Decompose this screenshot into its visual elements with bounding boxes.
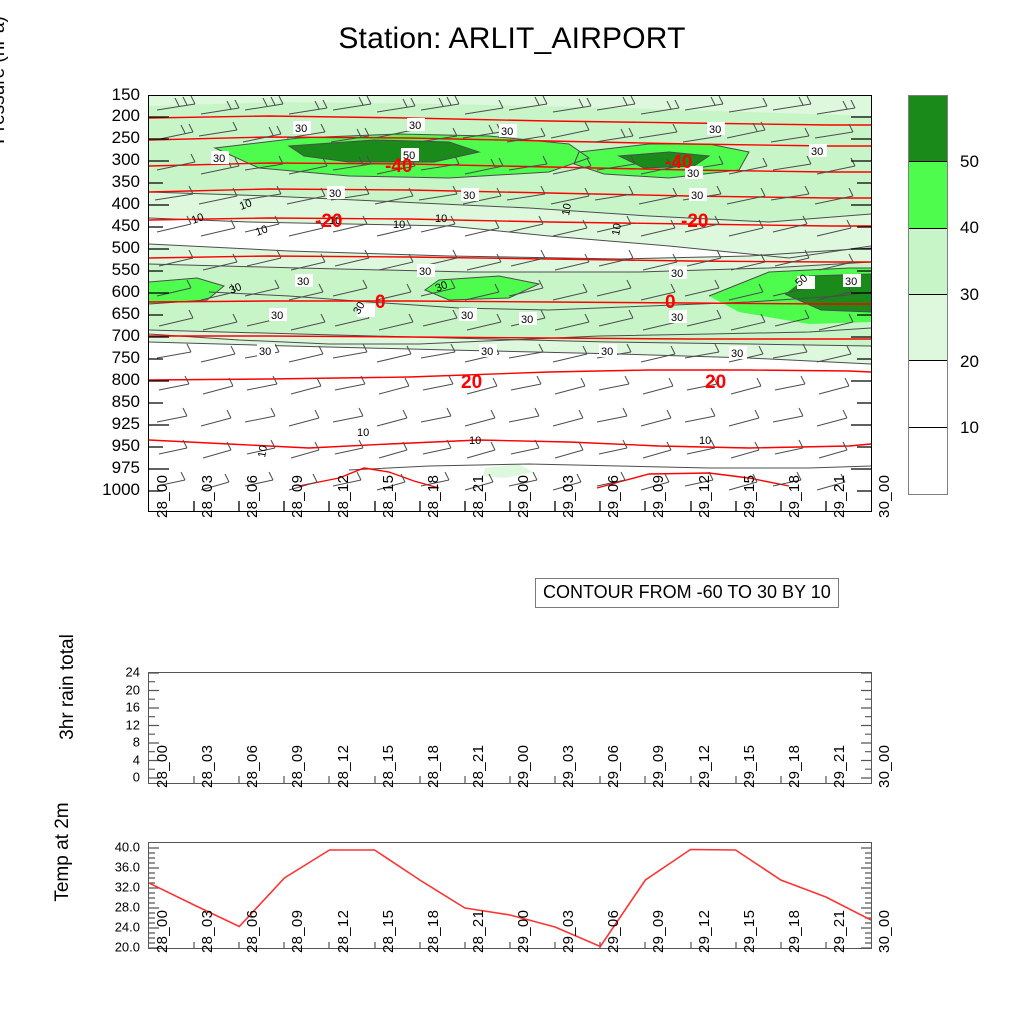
pressure-tick-750: 750 [80,348,140,368]
pressure-tick-450: 450 [80,216,140,236]
wind-label-30: 30 [259,346,271,358]
isotherm-label-minus20: -20 [315,211,342,232]
rain-xtick-30_00: 30_00 [876,745,893,788]
rain-ytick-24: 24 [96,665,140,680]
main-xtick-29_21: 29_21 [831,475,848,518]
pressure-tick-950: 950 [80,436,140,456]
colorbar-tick-10: 10 [960,418,979,438]
rain-ytick-20: 20 [96,682,140,697]
temp-xtick-29_12: 29_12 [696,910,713,953]
colorbar-band-5 [909,428,947,494]
main-xtick-30_00: 30_00 [876,475,893,518]
wind-label-30: 30 [461,310,473,322]
wind-label-30: 30 [709,124,721,136]
wind-label-10: 10 [357,427,369,439]
rain-ytick-12: 12 [96,717,140,732]
wind-label-30: 30 [671,268,683,280]
wind-label-30: 30 [213,153,225,165]
colorbar-band-0 [909,96,947,162]
temp-xtick-28_18: 28_18 [425,910,442,953]
wind-label-10: 10 [469,435,481,447]
main-xtick-28_06: 28_06 [244,475,261,518]
main-xtick-28_21: 28_21 [470,475,487,518]
wind-label-30: 30 [481,346,493,358]
temp-ytick-36.0: 36.0 [82,860,140,875]
main-xtick-29_09: 29_09 [650,475,667,518]
temp-xtick-28_03: 28_03 [199,910,216,953]
wind-label-10: 10 [393,219,405,231]
main-xtick-29_06: 29_06 [605,475,622,518]
rain-xtick-28_21: 28_21 [470,745,487,788]
main-xtick-28_00: 28_00 [154,475,171,518]
isotherm-label-minus40: -40 [665,152,692,173]
rain-ytick-16: 16 [96,700,140,715]
temp-ytick-40.0: 40.0 [82,840,140,855]
rain-xtick-28_18: 28_18 [425,745,442,788]
temp-xtick-29_03: 29_03 [560,910,577,953]
isotherm-label-20: 20 [705,372,726,393]
temp-xtick-30_00: 30_00 [876,910,893,953]
wind-label-10: 10 [254,223,270,238]
pressure-tick-150: 150 [80,85,140,105]
temp-xtick-29_00: 29_00 [515,910,532,953]
wind-label-10: 10 [699,435,711,447]
rain-xtick-29_21: 29_21 [831,745,848,788]
colorbar-tick-50: 50 [960,152,979,172]
pressure-tick-labels: 1502002503003504004505005506006507007508… [78,95,140,510]
wind-label-30: 30 [271,310,283,322]
pressure-tick-250: 250 [80,128,140,148]
temp-xtick-28_09: 28_09 [289,910,306,953]
wind-label-30: 30 [409,120,421,132]
main-xtick-28_09: 28_09 [289,475,306,518]
colorbar-band-1 [909,162,947,228]
rain-xtick-28_09: 28_09 [289,745,306,788]
temp-xtick-29_21: 29_21 [831,910,848,953]
wind-label-30: 30 [691,190,703,202]
temp-ytick-20.0: 20.0 [82,940,140,955]
rain-xtick-28_12: 28_12 [335,745,352,788]
contour-note-box: CONTOUR FROM -60 TO 30 BY 10 [535,578,839,608]
colorbar-band-3 [909,295,947,361]
wind-label-30: 30 [329,188,341,200]
temp-xtick-28_12: 28_12 [335,910,352,953]
temp-xtick-29_09: 29_09 [650,910,667,953]
main-xtick-29_18: 29_18 [786,475,803,518]
temp-xtick-29_15: 29_15 [741,910,758,953]
wind-label-30: 30 [501,126,513,138]
pressure-tick-400: 400 [80,194,140,214]
pressure-tick-500: 500 [80,238,140,258]
temp-xtick-28_00: 28_00 [154,910,171,953]
main-xtick-29_12: 29_12 [696,475,713,518]
pressure-tick-700: 700 [80,326,140,346]
main-xtick-28_18: 28_18 [425,475,442,518]
colorbar-tick-40: 40 [960,218,979,238]
temp-xtick-29_06: 29_06 [605,910,622,953]
pressure-tick-850: 850 [80,392,140,412]
wind-label-30: 30 [845,276,857,288]
time-height-svg: 30 30 30 30 30 50 30 30 30 30 30 10 10 1… [149,96,871,511]
isotherm-low-b [597,473,789,488]
main-xtick-28_15: 28_15 [380,475,397,518]
wind-label-30: 30 [521,314,533,326]
isotherm-label-0: 0 [665,292,676,313]
wind-label-30: 30 [297,276,309,288]
time-height-plot[interactable]: 30 30 30 30 30 50 30 30 30 30 30 10 10 1… [148,95,872,512]
pressure-tick-200: 200 [80,106,140,126]
rain-ytick-4: 4 [96,752,140,767]
temp-xtick-28_15: 28_15 [380,910,397,953]
wind-contour-10-low2 [349,464,871,470]
wind-label-10: 10 [560,202,574,216]
isotherm-20 [149,370,871,380]
rain-xtick-29_15: 29_15 [741,745,758,788]
pressure-tick-350: 350 [80,172,140,192]
rain-ytick-labels: 24201612840 [96,672,140,782]
wind-label-30: 30 [295,123,307,135]
isotherm-label-minus40: -40 [385,156,412,177]
rain-xtick-29_03: 29_03 [560,745,577,788]
colorbar-tick-30: 30 [960,285,979,305]
colorbar[interactable] [908,95,948,495]
temp-xtick-28_21: 28_21 [470,910,487,953]
colorbar-band-4 [909,361,947,427]
isotherm-label-minus20: -20 [681,211,708,232]
colorbar-tick-20: 20 [960,352,979,372]
wind-label-30: 30 [601,346,613,358]
pressure-tick-600: 600 [80,282,140,302]
main-xtick-29_00: 29_00 [515,475,532,518]
pressure-tick-975: 975 [80,458,140,478]
pressure-tick-300: 300 [80,150,140,170]
pressure-tick-925: 925 [80,414,140,434]
rain-xtick-28_03: 28_03 [199,745,216,788]
rain-xtick-29_00: 29_00 [515,745,532,788]
temp-xtick-29_18: 29_18 [786,910,803,953]
rain-axis-label-text: 3hr rain total [57,592,79,782]
rain-xtick-29_06: 29_06 [605,745,622,788]
page-title: Station: ARLIT_AIRPORT [0,22,1024,56]
rain-xtick-28_15: 28_15 [380,745,397,788]
isotherm-label-0: 0 [375,292,386,313]
wind-label-30: 30 [671,312,683,324]
temp-axis-label-text: Temp at 2m [52,757,74,947]
main-xtick-29_15: 29_15 [741,475,758,518]
temp-ytick-labels: 40.036.032.028.024.020.0 [82,842,140,947]
pressure-tick-1000: 1000 [80,480,140,500]
temp-ytick-28.0: 28.0 [82,900,140,915]
wind-label-30: 30 [419,266,431,278]
rain-xtick-29_12: 29_12 [696,745,713,788]
wind-label-30: 30 [811,146,823,158]
wind-label-30: 30 [731,348,743,360]
wind-label-30: 30 [463,190,475,202]
main-xtick-28_12: 28_12 [335,475,352,518]
isotherm-label-20: 20 [461,372,482,393]
rain-xtick-29_18: 29_18 [786,745,803,788]
temp-ytick-32.0: 32.0 [82,880,140,895]
rain-ytick-0: 0 [96,770,140,785]
pressure-tick-650: 650 [80,304,140,324]
main-xtick-28_03: 28_03 [199,475,216,518]
main-xtick-29_03: 29_03 [560,475,577,518]
rain-xtick-28_00: 28_00 [154,745,171,788]
wind-label-10: 10 [610,222,624,236]
temp-xtick-28_06: 28_06 [244,910,261,953]
wind-label-10: 10 [435,213,447,225]
pressure-tick-800: 800 [80,370,140,390]
rain-xtick-28_06: 28_06 [244,745,261,788]
colorbar-band-2 [909,229,947,295]
wind-label-10: 10 [256,444,270,458]
rain-ytick-8: 8 [96,735,140,750]
isotherm-low-a [299,468,439,488]
pressure-axis-label: Pressure (hPa) [0,0,10,210]
temp-ytick-24.0: 24.0 [82,920,140,935]
rain-xtick-29_09: 29_09 [650,745,667,788]
pressure-tick-550: 550 [80,260,140,280]
